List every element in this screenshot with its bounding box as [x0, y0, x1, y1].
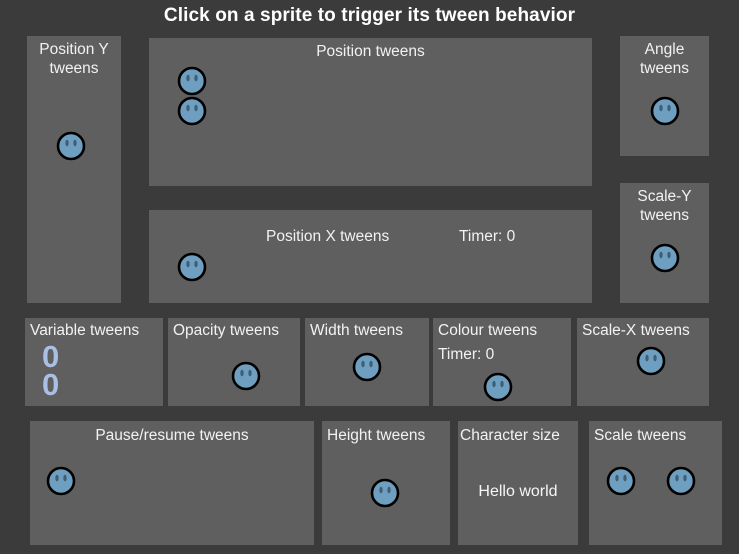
panel-label-height-tweens: Height tweens [327, 426, 425, 445]
sprite-opacity[interactable] [231, 361, 261, 391]
panel-label-position-tweens: Position tweens [149, 42, 592, 61]
panel-label-pause-resume-tweens: Pause/resume tweens [30, 426, 314, 445]
panel-label-scale-tweens: Scale tweens [594, 426, 686, 445]
sprite-position-x[interactable] [177, 252, 207, 282]
panel-angle-tweens[interactable]: Angle tweens [620, 36, 709, 156]
sprite-width[interactable] [352, 352, 382, 382]
sprite-position-y[interactable] [56, 131, 86, 161]
sprite-scale-x[interactable] [636, 346, 666, 376]
panel-label-colour-tweens: Colour tweens [438, 321, 537, 340]
app-stage: Click on a sprite to trigger its tween b… [0, 0, 739, 554]
sprite-angle[interactable] [650, 96, 680, 126]
panel-pause-resume-tweens[interactable]: Pause/resume tweens [30, 421, 314, 545]
character-size-sample-text: Hello world [458, 483, 578, 501]
panel-height-tweens[interactable]: Height tweens [322, 421, 450, 545]
sprite-scale-2[interactable] [666, 466, 696, 496]
panel-variable-tweens[interactable]: Variable tweens 0 0 [25, 318, 163, 406]
panel-label-angle-tweens: Angle tweens [620, 40, 709, 78]
panel-position-y-tweens[interactable]: Position Y tweens [27, 36, 121, 303]
sprite-height[interactable] [370, 478, 400, 508]
sprite-colour[interactable] [483, 372, 513, 402]
panel-width-tweens[interactable]: Width tweens [305, 318, 429, 406]
panel-scale-y-tweens[interactable]: Scale-Y tweens [620, 183, 709, 303]
panel-label-position-y-tweens: Position Y tweens [27, 40, 121, 78]
panel-opacity-tweens[interactable]: Opacity tweens [168, 318, 300, 406]
sprite-scale-y[interactable] [650, 243, 680, 273]
panel-label-position-x-tweens: Position X tweens [266, 227, 389, 246]
panel-character-size[interactable]: Character size Hello world [458, 421, 578, 545]
colour-timer: Timer: 0 [438, 345, 494, 364]
panel-label-width-tweens: Width tweens [310, 321, 403, 340]
panel-label-variable-tweens: Variable tweens [30, 321, 139, 340]
page-title: Click on a sprite to trigger its tween b… [0, 5, 739, 27]
panel-position-tweens[interactable]: Position tweens [149, 38, 592, 186]
position-x-timer: Timer: 0 [459, 227, 515, 246]
sprite-scale-1[interactable] [606, 466, 636, 496]
panel-scale-x-tweens[interactable]: Scale-X tweens [577, 318, 709, 406]
panel-position-x-tweens[interactable]: Position X tweens Timer: 0 [149, 210, 592, 303]
variable-value-2: 0 [42, 370, 59, 400]
panel-label-scale-y-tweens: Scale-Y tweens [620, 187, 709, 225]
sprite-position-2[interactable] [177, 96, 207, 126]
panel-label-scale-x-tweens: Scale-X tweens [582, 321, 690, 340]
sprite-pause-resume[interactable] [46, 466, 76, 496]
sprite-position-1[interactable] [177, 66, 207, 96]
panel-label-character-size: Character size [460, 426, 560, 445]
panel-colour-tweens[interactable]: Colour tweens Timer: 0 [433, 318, 571, 406]
panel-scale-tweens[interactable]: Scale tweens [589, 421, 722, 545]
panel-label-opacity-tweens: Opacity tweens [173, 321, 279, 340]
